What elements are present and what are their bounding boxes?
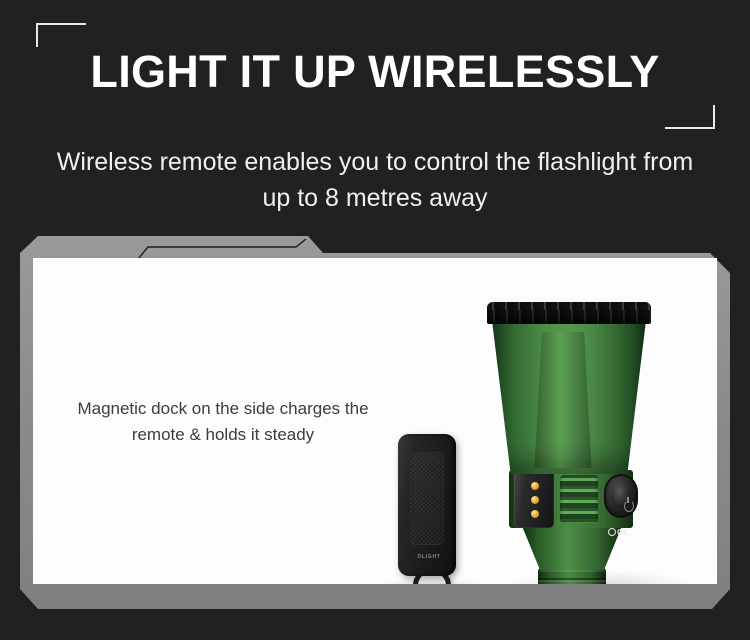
bracket-vertical-line	[36, 23, 38, 47]
flashlight-grip	[538, 568, 606, 584]
corner-bracket-bottom-right	[665, 105, 715, 129]
product-photo-card: Magnetic dock on the side charges the re…	[20, 231, 730, 611]
bracket-horizontal-line	[36, 23, 86, 25]
corner-bracket-top-left	[36, 23, 86, 47]
page-subtitle: Wireless remote enables you to control t…	[55, 144, 695, 216]
flashlight-power-button	[604, 474, 638, 518]
photo-caption: Magnetic dock on the side charges the re…	[51, 396, 395, 448]
promo-banner: LIGHT IT UP WIRELESSLY Wireless remote e…	[0, 0, 750, 640]
remote-button-panel	[410, 448, 444, 545]
remote-body: OLIGHT	[398, 434, 456, 576]
dock-contact-2	[531, 496, 539, 504]
brand-mark-icon	[608, 528, 616, 536]
product-photo: Magnetic dock on the side charges the re…	[33, 258, 717, 584]
magnetic-dock	[514, 468, 554, 528]
flashlight-brand-text: OL	[617, 528, 629, 537]
power-icon	[624, 500, 634, 512]
power-button-inner	[611, 484, 631, 508]
flashlight-cooling-fins	[560, 475, 598, 523]
dock-contact-1	[531, 482, 539, 490]
bracket-vertical-line	[713, 105, 715, 129]
flashlight: OL	[478, 302, 717, 584]
flashlight-bezel-crenellations	[487, 302, 651, 310]
flashlight-brand-logo: OL	[608, 528, 629, 537]
flashlight-head-facet	[532, 332, 594, 468]
page-title: LIGHT IT UP WIRELESSLY	[0, 46, 750, 98]
wireless-remote: OLIGHT	[390, 434, 462, 584]
flashlight-neck	[522, 526, 622, 570]
dock-contact-3	[531, 510, 539, 518]
bracket-horizontal-line	[665, 127, 715, 129]
remote-brand-logo: OLIGHT	[411, 554, 447, 560]
